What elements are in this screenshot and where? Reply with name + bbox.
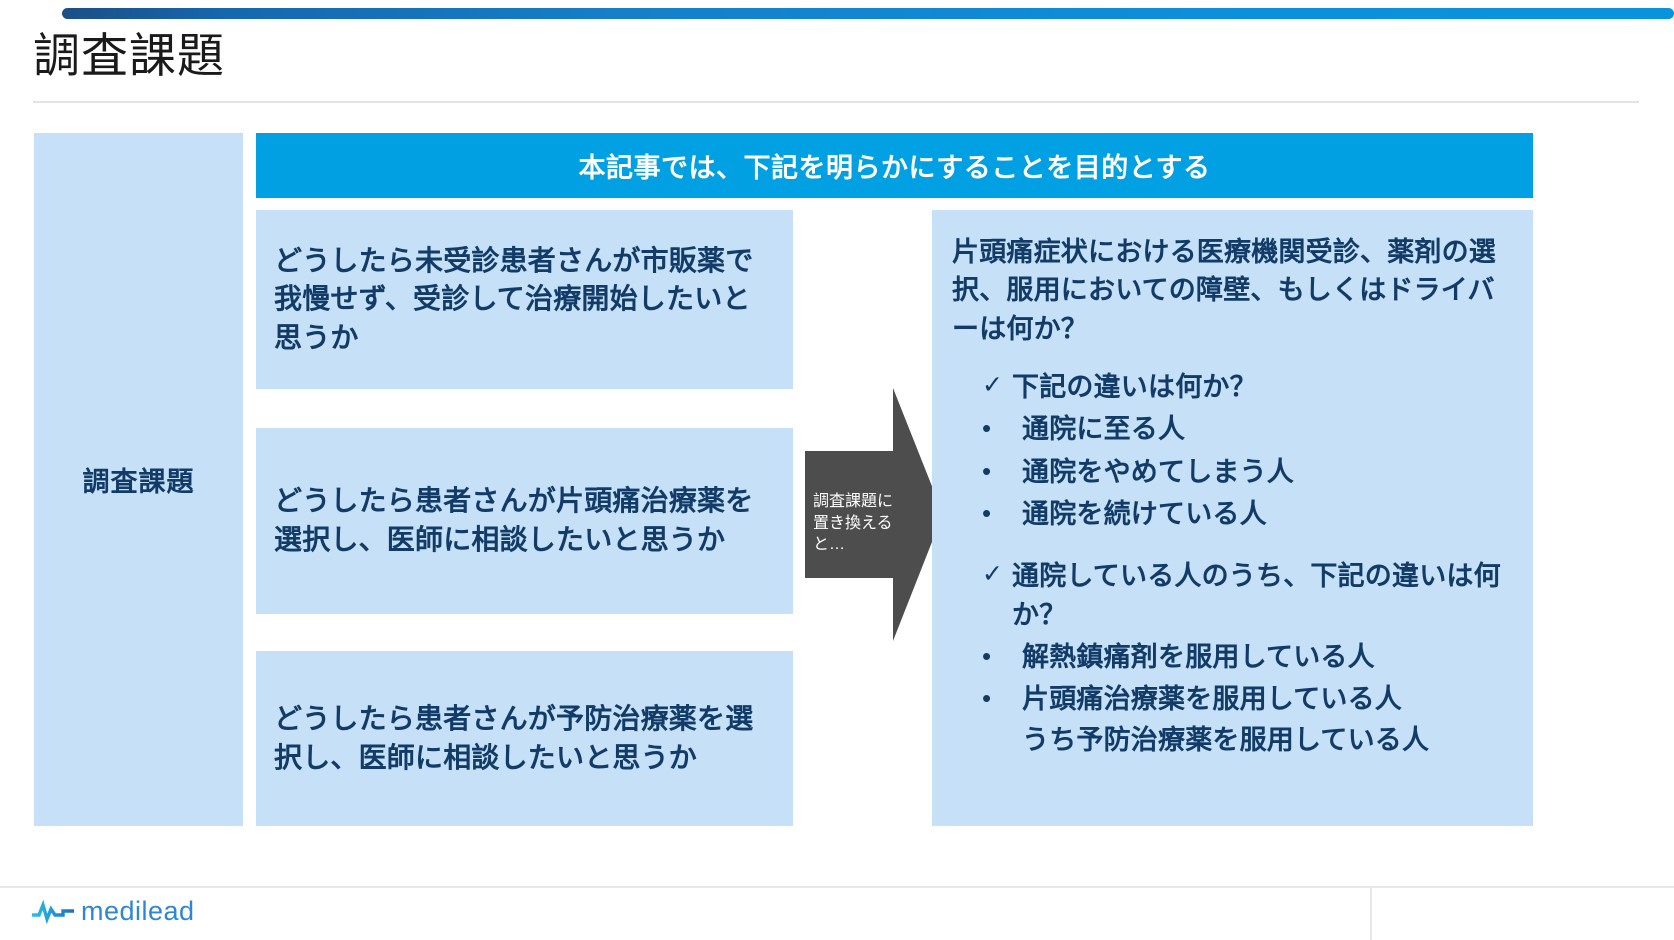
bullet-text: 解熱鎮痛剤を服用している人 [1022,638,1375,676]
objectives-panel: 片頭痛症状における医療機関受診、薬剤の選択、服用においての障壁、もしくはドライバ… [932,210,1533,826]
question-box-1: どうしたら未受診患者さんが市販薬で我慢せず、受診して治療開始したいと思うか [256,210,793,389]
footer-divider-vertical [1370,886,1372,940]
question-text-3: どうしたら患者さんが予防治療薬を選択し、医師に相談したいと思うか [274,700,775,777]
check-text-2: 通院している人のうち、下記の違いは何か？ [1012,557,1513,634]
medilead-logo: medilead [32,896,195,927]
arrow-line-1: 調査課題に [813,493,893,510]
bullet-dot-icon: • [982,680,1022,717]
bullet-text: 通院に至る人 [1022,410,1185,448]
bullet-dot-icon: • [982,410,1022,447]
check-row-1: ✓ 下記の違いは何か？ [944,368,1513,406]
side-label-panel: 調査課題 [34,133,243,826]
pulse-waveform-icon [32,899,74,925]
top-accent-bar [62,8,1674,19]
objective-group-1: ✓ 下記の違いは何か？ • 通院に至る人 • 通院をやめてしまう人 • 通院を続… [944,368,1513,533]
objectives-heading: 片頭痛症状における医療機関受診、薬剤の選択、服用においての障壁、もしくはドライバ… [944,233,1513,348]
check-row-2: ✓ 通院している人のうち、下記の違いは何か？ [944,557,1513,634]
bullet-text: 片頭痛治療薬を服用している人 [1022,680,1402,718]
check-text-1: 下記の違いは何か？ [1012,368,1257,406]
bullet-dot-icon: • [982,453,1022,490]
slide-root: 調査課題 調査課題 本記事では、下記を明らかにすることを目的とする どうしたら未… [0,0,1674,940]
page-title: 調査課題 [33,28,225,84]
list-item: • 通院に至る人 [944,410,1513,448]
transition-arrow-label: 調査課題に置き換えると… [813,491,917,556]
check-icon-1: ✓ [982,368,1012,404]
bullet-text: 通院をやめてしまう人 [1022,453,1294,491]
list-item: • 通院を続けている人 [944,495,1513,533]
question-text-2: どうしたら患者さんが片頭痛治療薬を選択し、医師に相談したいと思うか [274,482,775,559]
question-box-2: どうしたら患者さんが片頭痛治療薬を選択し、医師に相談したいと思うか [256,428,793,614]
side-label-text: 調査課題 [83,460,195,499]
question-box-3: どうしたら患者さんが予防治療薬を選択し、医師に相談したいと思うか [256,651,793,826]
check-icon-2: ✓ [982,557,1012,593]
bullet-dot-icon: • [982,638,1022,675]
list-item: • 通院をやめてしまう人 [944,453,1513,491]
question-text-1: どうしたら未受診患者さんが市販薬で我慢せず、受診して治療開始したいと思うか [274,242,775,358]
logo-text: medilead [81,896,195,927]
purpose-banner: 本記事では、下記を明らかにすることを目的とする [256,133,1533,198]
objective-group-2: ✓ 通院している人のうち、下記の違いは何か？ • 解熱鎮痛剤を服用している人 •… [944,557,1513,759]
bullet-dot-icon: • [982,495,1022,532]
list-item: • 解熱鎮痛剤を服用している人 [944,638,1513,676]
title-divider [33,101,1639,103]
bullet-continuation-text: うち予防治療薬を服用している人 [944,721,1513,759]
transition-arrow: 調査課題に置き換えると… [805,388,943,641]
arrow-line-2: 置き換えると… [813,515,893,554]
footer-divider [0,886,1674,888]
list-item: • 片頭痛治療薬を服用している人 [944,680,1513,718]
bullet-text: 通院を続けている人 [1022,495,1267,533]
purpose-banner-text: 本記事では、下記を明らかにすることを目的とする [579,146,1211,185]
